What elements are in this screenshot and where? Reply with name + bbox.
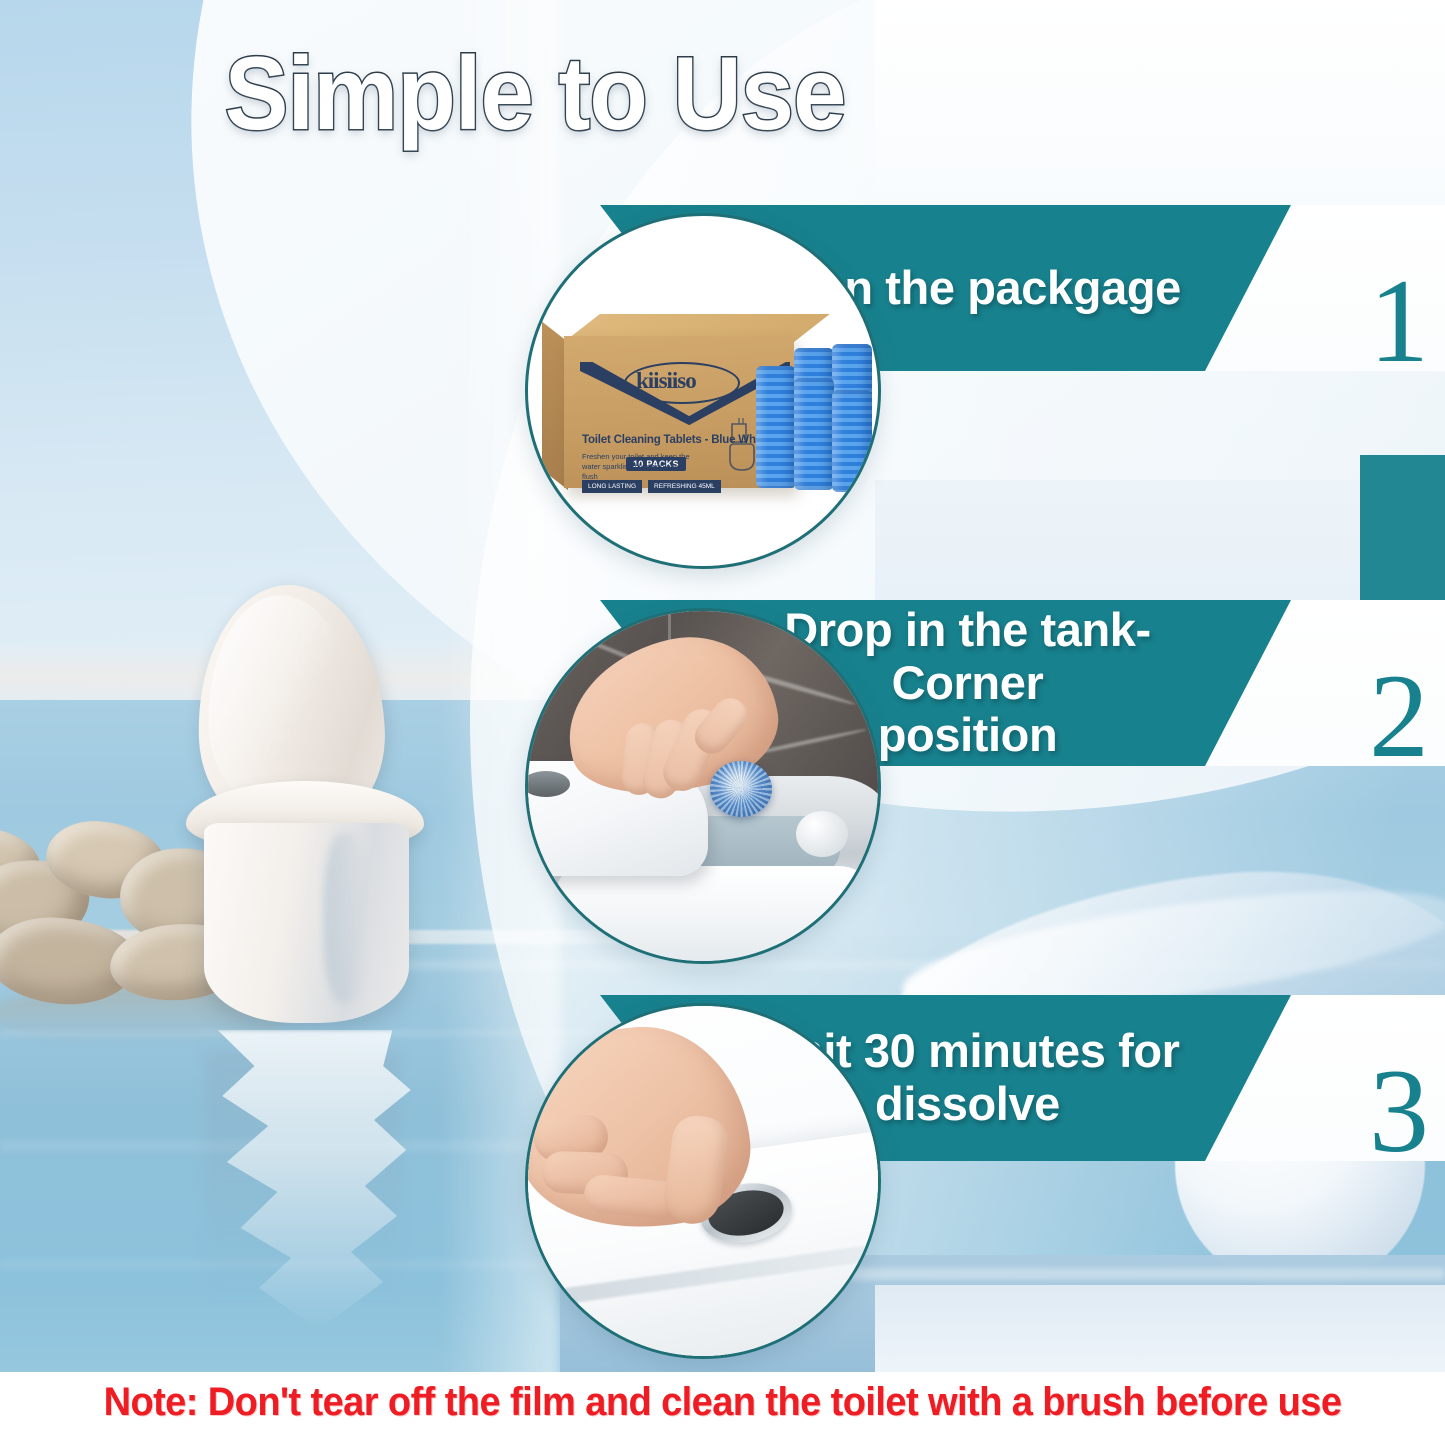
step-number-3: 3 [1369,1051,1429,1171]
step-row-3: Wait 30 minutes for dissolve 3 [0,995,1445,1355]
brand-name: kiisiiso [636,368,696,394]
step-number-2: 2 [1369,656,1429,776]
step-image-bubble-2 [525,608,881,964]
step-label-2-line2: position [878,708,1058,761]
infographic-canvas: Simple to Use Open the packgage 1 10 PAC… [0,0,1445,1432]
tablet-stacks [750,344,874,496]
box-badge-right: REFRESHING 45ML [648,480,721,493]
tank-float-ball [796,811,848,857]
step-row-1: Open the packgage 1 10 PACKS kiisiiso To… [0,205,1445,565]
step-image-bubble-1: 10 PACKS kiisiiso Toilet Cleaning Tablet… [525,213,881,569]
step-row-2: Drop in the tank-Corner position 2 [0,600,1445,960]
tablet-stack [756,366,796,488]
note-text: Note: Don't tear off the film and clean … [104,1380,1342,1425]
note-bar: Note: Don't tear off the film and clean … [0,1372,1445,1432]
tablet-stack [832,390,872,492]
box-badge-left: LONG LASTING [582,480,642,493]
page-title: Simple to Use [43,42,1027,146]
blue-cleaning-tablet [710,761,772,817]
step-label-3-line2: dissolve [875,1077,1060,1130]
box-badges: LONG LASTING REFRESHING 45ML [582,480,721,493]
toilet-bowl-front [558,866,868,964]
tablet-stack [794,378,834,490]
step-number-1: 1 [1369,261,1429,381]
step-image-bubble-3 [525,1003,881,1359]
product-description-text: Freshen your toilet and keep the water s… [582,452,702,482]
